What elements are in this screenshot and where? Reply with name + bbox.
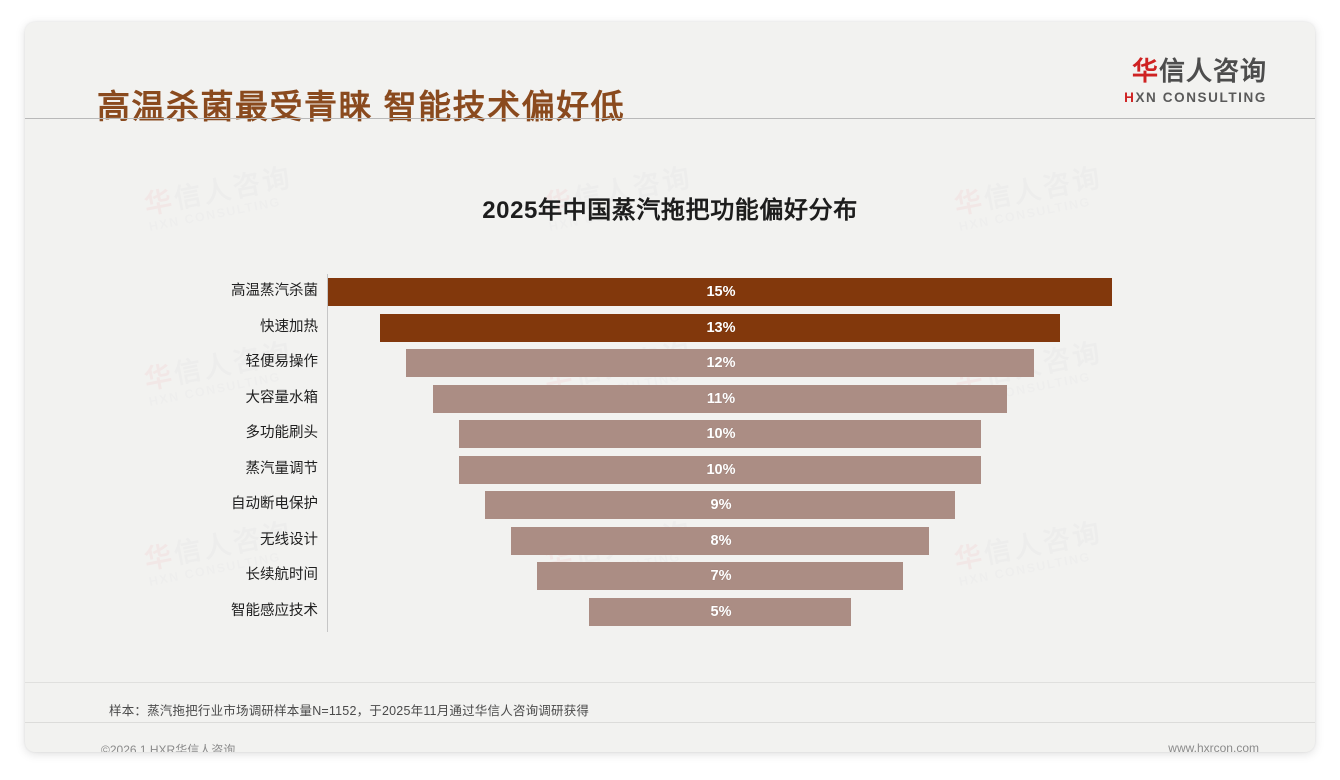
header-divider bbox=[25, 118, 1315, 119]
bar-row: 无线设计8% bbox=[200, 523, 1200, 559]
brand-logo-en-rest: XN CONSULTING bbox=[1135, 90, 1267, 105]
bar-value-label: 10% bbox=[329, 456, 1113, 484]
brand-logo-en: HXN CONSULTING bbox=[1124, 91, 1267, 105]
bar-row: 自动断电保护9% bbox=[200, 487, 1200, 523]
footnote-divider bbox=[25, 682, 1315, 683]
brand-logo-cn-accent: 华 bbox=[1132, 56, 1159, 86]
bar-row: 蒸汽量调节10% bbox=[200, 452, 1200, 488]
copyright-text: ©2026.1 HXR华信人咨询 bbox=[101, 741, 235, 752]
source-footnote: 样本：蒸汽拖把行业市场调研样本量N=1152，于2025年11月通过华信人咨询调… bbox=[109, 700, 589, 719]
bar-category-label: 高温蒸汽杀菌 bbox=[200, 274, 318, 310]
slide-footer: ©2026.1 HXR华信人咨询 www.hxrcon.com bbox=[25, 722, 1315, 752]
bar-row: 长续航时间7% bbox=[200, 558, 1200, 594]
bar-row: 快速加热13% bbox=[200, 310, 1200, 346]
bar-category-label: 自动断电保护 bbox=[200, 487, 318, 523]
bar-category-label: 多功能刷头 bbox=[200, 416, 318, 452]
bar-value-label: 7% bbox=[329, 562, 1113, 590]
brand-logo-cn: 华信人咨询 bbox=[1124, 58, 1267, 84]
brand-logo-en-accent: H bbox=[1124, 90, 1135, 105]
chart-title: 2025年中国蒸汽拖把功能偏好分布 bbox=[25, 190, 1315, 225]
bar-category-label: 大容量水箱 bbox=[200, 381, 318, 417]
bar-category-label: 蒸汽量调节 bbox=[200, 452, 318, 488]
bar-value-label: 10% bbox=[329, 420, 1113, 448]
bar-value-label: 11% bbox=[329, 385, 1113, 413]
bar-row: 多功能刷头10% bbox=[200, 416, 1200, 452]
bar-category-label: 快速加热 bbox=[200, 310, 318, 346]
bar-value-label: 5% bbox=[329, 598, 1113, 626]
brand-logo-cn-rest: 信人咨询 bbox=[1159, 56, 1267, 86]
bar-row: 高温蒸汽杀菌15% bbox=[200, 274, 1200, 310]
bar-row: 大容量水箱11% bbox=[200, 381, 1200, 417]
funnel-bar-chart: 高温蒸汽杀菌15%快速加热13%轻便易操作12%大容量水箱11%多功能刷头10%… bbox=[200, 274, 1200, 634]
bar-row: 智能感应技术5% bbox=[200, 594, 1200, 630]
page-title: 高温杀菌最受青睐 智能技术偏好低 bbox=[97, 80, 625, 128]
bar-category-label: 无线设计 bbox=[200, 523, 318, 559]
bar-value-label: 13% bbox=[329, 314, 1113, 342]
chart-area: 2025年中国蒸汽拖把功能偏好分布 高温蒸汽杀菌15%快速加热13%轻便易操作1… bbox=[25, 146, 1315, 656]
slide-card: 华信人咨询HXN CONSULTING华信人咨询HXN CONSULTING华信… bbox=[25, 22, 1315, 752]
bar-value-label: 15% bbox=[329, 278, 1113, 306]
bar-category-label: 智能感应技术 bbox=[200, 594, 318, 630]
bar-value-label: 12% bbox=[329, 349, 1113, 377]
bar-value-label: 8% bbox=[329, 527, 1113, 555]
bar-category-label: 轻便易操作 bbox=[200, 345, 318, 381]
slide-header: 高温杀菌最受青睐 智能技术偏好低 华信人咨询 HXN CONSULTING bbox=[25, 22, 1315, 146]
bar-category-label: 长续航时间 bbox=[200, 558, 318, 594]
bar-value-label: 9% bbox=[329, 491, 1113, 519]
bar-row: 轻便易操作12% bbox=[200, 345, 1200, 381]
website-link[interactable]: www.hxrcon.com bbox=[1168, 741, 1259, 752]
brand-logo: 华信人咨询 HXN CONSULTING bbox=[1124, 58, 1267, 105]
